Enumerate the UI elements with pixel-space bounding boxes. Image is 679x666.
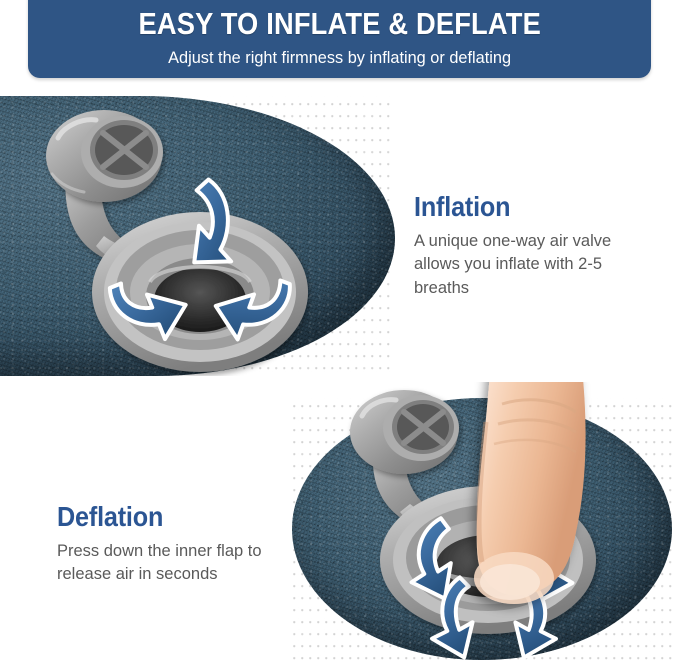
- inflation-body-text: A unique one-way air valve allows you in…: [414, 230, 649, 300]
- page-title: EASY TO INFLATE & DEFLATE: [138, 8, 541, 41]
- deflation-product-photo: [288, 382, 679, 666]
- deflation-text-block: Deflation Press down the inner flap to r…: [57, 503, 307, 587]
- inflation-heading: Inflation: [414, 193, 626, 221]
- deflation-heading: Deflation: [57, 503, 282, 531]
- inflation-product-photo: [0, 96, 400, 376]
- page-subtitle: Adjust the right firmness by inflating o…: [168, 48, 511, 68]
- deflation-body-text: Press down the inner flap to release air…: [57, 540, 307, 587]
- deflation-valve-illustration: [288, 382, 679, 666]
- inflation-text-block: Inflation A unique one-way air valve all…: [414, 193, 649, 300]
- header-banner: EASY TO INFLATE & DEFLATE Adjust the rig…: [28, 0, 651, 78]
- inflation-valve-illustration: [0, 96, 400, 376]
